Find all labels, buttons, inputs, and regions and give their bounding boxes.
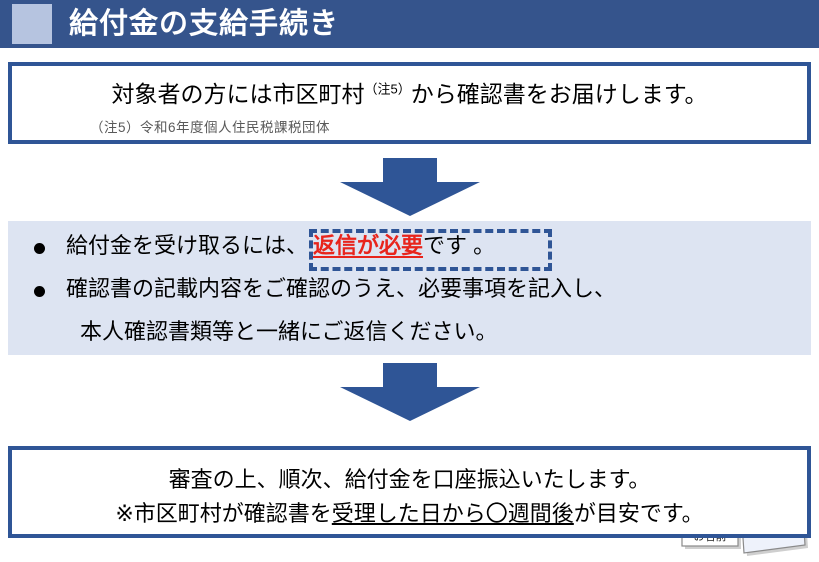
emphasis-text-group: 返信が必要です 。 — [313, 234, 495, 258]
step1-box: 対象者の方には市区町村（注5）から確認書をお届けします。 （注5）令和6年度個人… — [8, 62, 811, 144]
step1-note-marker: （注5） — [365, 81, 411, 96]
step3-box: 審査の上、順次、給付金を口座振込いたします。 ※市区町村が確認書を受理した日から… — [8, 446, 811, 538]
arrow-down-icon — [340, 363, 480, 421]
step1-text-before: 対象者の方には市区町村 — [112, 81, 365, 107]
header-accent-square — [12, 4, 52, 44]
step3-line-2-underlined: 受理した日から〇週間後 — [332, 501, 574, 526]
arrow-down-icon — [340, 158, 480, 216]
bullet-dot-icon — [34, 243, 45, 254]
slide-canvas: 給付金の支給手続き 対象者の方には市区町村（注5）から確認書をお届けします。 （… — [0, 0, 819, 547]
step3-line-2-prefix: ※市区町村が確認書を — [115, 501, 331, 526]
step2-bullet-2-continuation: 本人確認書類等と一緒にご返信ください。 — [80, 320, 498, 344]
step2-panel: 給付金を受け取るには、 返信が必要です 。 確認書の記載内容をご確認のうえ、必要… — [8, 221, 811, 355]
step2-bullet-1: 給付金を受け取るには、 — [34, 234, 308, 258]
step2-bullet-1-text: 給付金を受け取るには、 — [66, 234, 308, 258]
step1-footnote: （注5）令和6年度個人住民税課税団体 — [90, 116, 330, 136]
emphasis-tail-text: です 。 — [423, 233, 495, 258]
step1-text-after: から確認書をお届けします。 — [411, 81, 708, 107]
step2-bullet-2-line2: 本人確認書類等と一緒にご返信ください。 — [80, 320, 498, 344]
step3-line-2: ※市区町村が確認書を受理した日から〇週間後が目安です。 — [12, 496, 807, 528]
step2-bullet-2: 確認書の記載内容をご確認のうえ、必要事項を記入し、 — [34, 277, 616, 301]
bullet-dot-icon — [34, 286, 45, 297]
emphasis-red-text: 返信が必要 — [313, 233, 423, 258]
step3-line-1: 審査の上、順次、給付金を口座振込いたします。 — [12, 462, 807, 494]
page-title: 給付金の支給手続き — [69, 10, 339, 39]
page-header: 給付金の支給手続き — [0, 0, 819, 48]
step3-line-2-suffix: が目安です。 — [574, 501, 704, 526]
step2-bullet-2-line1: 確認書の記載内容をご確認のうえ、必要事項を記入し、 — [66, 277, 616, 301]
step1-main-text: 対象者の方には市区町村（注5）から確認書をお届けします。 — [12, 75, 807, 109]
